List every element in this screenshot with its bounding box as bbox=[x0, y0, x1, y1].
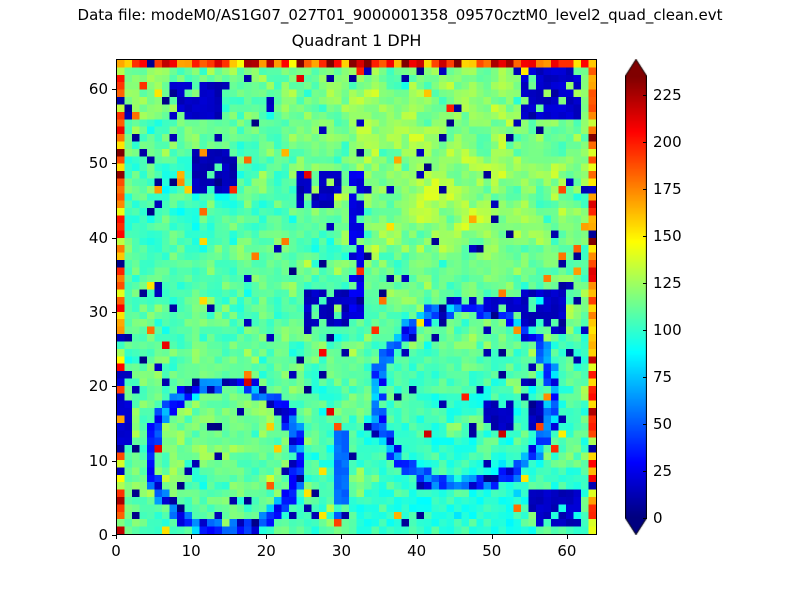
y-tick-mark bbox=[112, 386, 116, 387]
y-tick-mark bbox=[112, 89, 116, 90]
y-tick-mark bbox=[112, 312, 116, 313]
colorbar-tick-label: 75 bbox=[653, 368, 672, 386]
colorbar-tick-label: 225 bbox=[653, 86, 682, 104]
colorbar-tick-mark bbox=[643, 142, 647, 143]
x-tick-mark bbox=[116, 535, 117, 539]
colorbar-tick-mark bbox=[643, 377, 647, 378]
y-tick-label: 0 bbox=[72, 526, 108, 544]
colorbar-tick-mark bbox=[643, 95, 647, 96]
y-tick-mark bbox=[112, 535, 116, 536]
y-tick-label: 30 bbox=[72, 303, 108, 321]
x-tick-mark bbox=[492, 535, 493, 539]
colorbar[interactable] bbox=[625, 59, 647, 535]
heatmap-axes[interactable] bbox=[116, 59, 597, 535]
colorbar-tick-mark bbox=[643, 424, 647, 425]
y-tick-label: 60 bbox=[72, 80, 108, 98]
x-tick-mark bbox=[341, 535, 342, 539]
y-tick-mark bbox=[112, 238, 116, 239]
colorbar-tick-mark bbox=[643, 471, 647, 472]
colorbar-tick-mark bbox=[643, 518, 647, 519]
x-tick-mark bbox=[567, 535, 568, 539]
x-tick-label: 0 bbox=[111, 542, 121, 560]
data-file-label: Data file: modeM0/AS1G07_027T01_90000013… bbox=[0, 6, 800, 24]
colorbar-tick-mark bbox=[643, 189, 647, 190]
figure-canvas: Data file: modeM0/AS1G07_027T01_90000013… bbox=[0, 0, 800, 600]
colorbar-tick-label: 50 bbox=[653, 415, 672, 433]
colorbar-tick-label: 100 bbox=[653, 321, 682, 339]
colorbar-tick-label: 0 bbox=[653, 509, 663, 527]
x-tick-label: 30 bbox=[332, 542, 351, 560]
x-tick-mark bbox=[266, 535, 267, 539]
y-tick-label: 10 bbox=[72, 452, 108, 470]
x-tick-label: 60 bbox=[557, 542, 576, 560]
y-tick-label: 40 bbox=[72, 229, 108, 247]
colorbar-tick-mark bbox=[643, 330, 647, 331]
colorbar-tick-mark bbox=[643, 283, 647, 284]
colorbar-tick-label: 125 bbox=[653, 274, 682, 292]
colorbar-tick-label: 200 bbox=[653, 133, 682, 151]
colorbar-tick-mark bbox=[643, 236, 647, 237]
x-tick-label: 50 bbox=[482, 542, 501, 560]
y-tick-label: 50 bbox=[72, 154, 108, 172]
x-tick-mark bbox=[417, 535, 418, 539]
x-tick-label: 40 bbox=[407, 542, 426, 560]
detector-heatmap-image[interactable] bbox=[117, 60, 596, 534]
x-tick-label: 10 bbox=[182, 542, 201, 560]
colorbar-tick-label: 150 bbox=[653, 227, 682, 245]
page-title: Quadrant 1 DPH bbox=[116, 31, 597, 50]
x-tick-mark bbox=[191, 535, 192, 539]
y-tick-mark bbox=[112, 461, 116, 462]
x-tick-label: 20 bbox=[257, 542, 276, 560]
y-tick-mark bbox=[112, 163, 116, 164]
colorbar-tick-label: 25 bbox=[653, 462, 672, 480]
colorbar-gradient bbox=[625, 59, 647, 535]
colorbar-tick-label: 175 bbox=[653, 180, 682, 198]
y-tick-label: 20 bbox=[72, 377, 108, 395]
